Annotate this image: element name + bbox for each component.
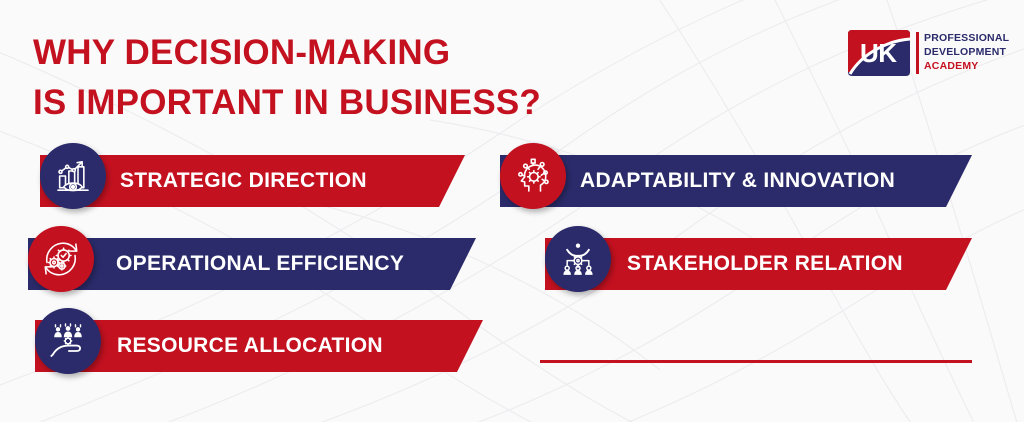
org-chart-people-icon (558, 239, 598, 279)
badge-operational-efficiency (28, 226, 94, 292)
item-strategic-direction[interactable]: STRATEGIC DIRECTION (40, 155, 465, 207)
logo-wordmark-line-1: PROFESSIONAL (924, 32, 998, 46)
badge-resource-allocation (35, 308, 101, 374)
people-on-hand-icon (48, 321, 88, 361)
item-operational-efficiency[interactable]: OPERATIONAL EFFICIENCY (28, 238, 476, 290)
bottom-divider-rule (540, 360, 972, 363)
item-label: ADAPTABILITY & INNOVATION (580, 155, 895, 207)
gears-check-cycle-icon (40, 238, 82, 280)
badge-adaptability-innovation (500, 143, 566, 209)
item-resource-allocation[interactable]: RESOURCE ALLOCATION (35, 320, 483, 372)
item-label: RESOURCE ALLOCATION (117, 320, 383, 372)
logo-wordmark-line-3: ACADEMY (924, 60, 998, 74)
brain-gear-icon (513, 156, 553, 196)
bar-chart-vision-icon (53, 156, 93, 196)
page-title-line-2: IS IMPORTANT IN BUSINESS? (33, 78, 673, 128)
page-title: WHY DECISION-MAKING IS IMPORTANT IN BUSI… (33, 28, 673, 127)
item-label: OPERATIONAL EFFICIENCY (116, 238, 404, 290)
item-stakeholder-relation[interactable]: STAKEHOLDER RELATION (545, 238, 972, 290)
badge-strategic-direction (40, 143, 106, 209)
page-title-line-1: WHY DECISION-MAKING (33, 28, 673, 78)
item-label: STRATEGIC DIRECTION (120, 155, 367, 207)
brand-logo: UK PROFESSIONAL DEVELOPMENT ACADEMY (846, 28, 998, 80)
badge-stakeholder-relation (545, 226, 611, 292)
item-adaptability-innovation[interactable]: ADAPTABILITY & INNOVATION (500, 155, 972, 207)
logo-divider (916, 32, 919, 74)
logo-wordmark-line-2: DEVELOPMENT (924, 46, 998, 60)
logo-mark-text: UK (860, 40, 897, 66)
infographic-canvas: WHY DECISION-MAKING IS IMPORTANT IN BUSI… (0, 0, 1024, 422)
item-label: STAKEHOLDER RELATION (627, 238, 903, 290)
logo-wordmark: PROFESSIONAL DEVELOPMENT ACADEMY (924, 32, 998, 74)
